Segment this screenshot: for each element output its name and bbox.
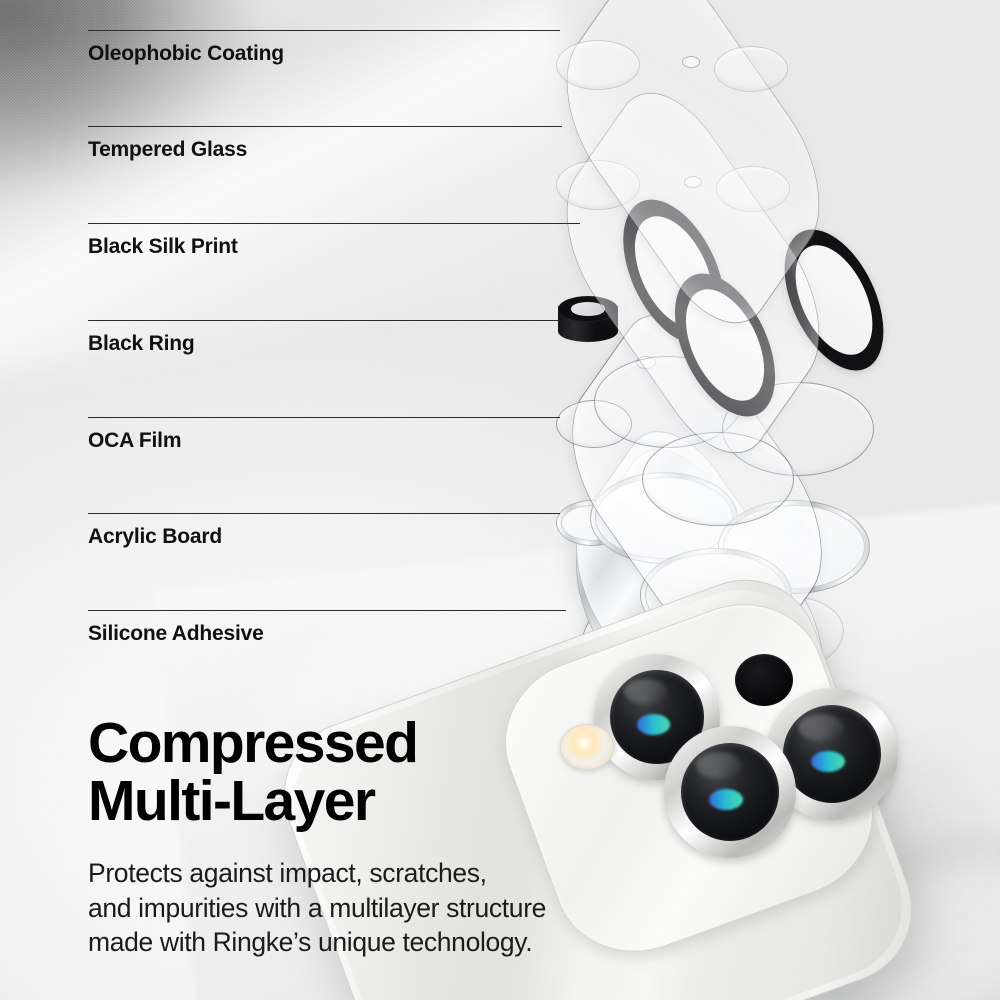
- marketing-text-block: Compressed Multi-Layer Protects against …: [88, 714, 748, 960]
- infographic-canvas: Oleophobic Coating Tempered Glass Black …: [0, 0, 1000, 1000]
- body-line-1: Protects against impact, scratches,: [88, 856, 748, 890]
- callout-label: Tempered Glass: [88, 138, 247, 162]
- body-copy: Protects against impact, scratches, and …: [88, 856, 748, 959]
- callout-rule: [88, 30, 560, 31]
- callout-label: Silicone Adhesive: [88, 622, 264, 646]
- headline-line-2: Multi-Layer: [88, 772, 748, 830]
- callout-label: Black Ring: [88, 332, 195, 356]
- callout-label: Acrylic Board: [88, 525, 222, 549]
- body-line-3: made with Ringke’s unique technology.: [88, 925, 748, 959]
- callout-label: Black Silk Print: [88, 235, 238, 259]
- headline: Compressed Multi-Layer: [88, 714, 748, 830]
- callout-label: OCA Film: [88, 429, 181, 453]
- body-line-2: and impurities with a multilayer structu…: [88, 891, 748, 925]
- callout-label: Oleophobic Coating: [88, 42, 284, 66]
- callout-rule: [88, 417, 560, 418]
- callout-rule: [88, 223, 580, 224]
- callout-rule: [88, 126, 562, 127]
- callout-rule: [88, 610, 566, 611]
- headline-line-1: Compressed: [88, 711, 417, 775]
- callout-rule: [88, 513, 560, 514]
- callout-rule: [88, 320, 560, 321]
